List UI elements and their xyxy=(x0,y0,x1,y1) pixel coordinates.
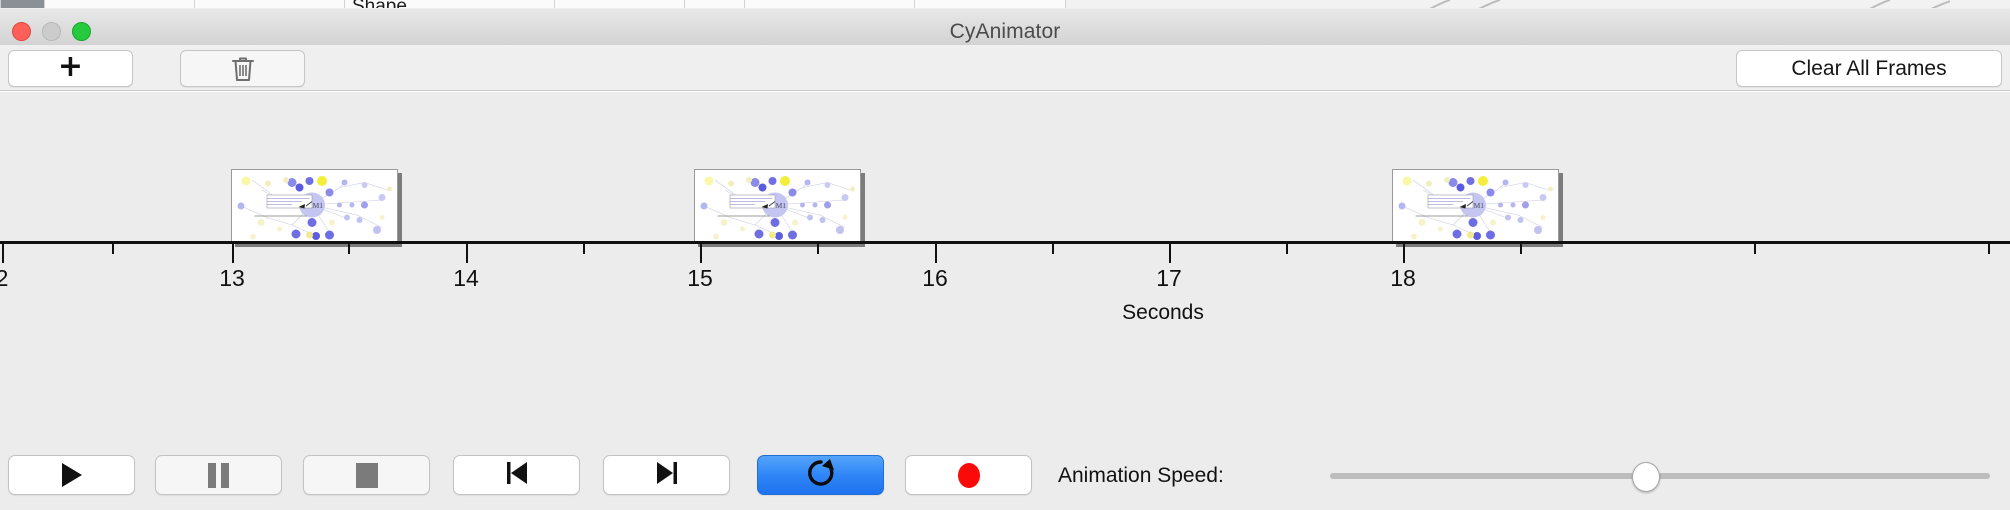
ruler-tick-minor xyxy=(583,244,585,254)
window-title: CyAnimator xyxy=(0,20,2010,44)
ruler-tick-label: 17 xyxy=(1156,265,1182,292)
delete-frame-button[interactable] xyxy=(180,50,305,87)
animation-speed-slider[interactable] xyxy=(1330,473,1990,479)
ruler-tick-minor xyxy=(1988,244,1990,254)
ruler-tick-label: 18 xyxy=(1390,265,1416,292)
skip-back-icon xyxy=(505,460,529,491)
ruler-tick-label: 16 xyxy=(922,265,948,292)
pause-icon xyxy=(208,463,229,488)
ruler-baseline xyxy=(0,241,2010,244)
record-button[interactable] xyxy=(905,455,1032,495)
ruler-tick-label: 2 xyxy=(0,265,8,292)
animation-speed-slider-thumb[interactable] xyxy=(1632,462,1660,492)
ruler-tick-major xyxy=(700,244,702,263)
plus-icon: + xyxy=(58,52,83,82)
stop-button[interactable] xyxy=(303,455,430,495)
ruler-tick-major xyxy=(1169,244,1171,263)
ruler-tick-minor xyxy=(1520,244,1522,254)
timeline-panel[interactable]: MCM1 xyxy=(0,91,2010,416)
ruler-tick-minor xyxy=(1286,244,1288,254)
timeline-frame-thumbnail[interactable]: MCM1 xyxy=(1392,169,1559,243)
ruler-tick-minor xyxy=(348,244,350,254)
ruler-tick-label: 15 xyxy=(687,265,713,292)
panel-top-divider xyxy=(0,91,2010,92)
timeline-frame-thumbnail[interactable]: MCM1 xyxy=(231,169,398,243)
timeline-frame-thumbnail[interactable]: MCM1 xyxy=(694,169,861,243)
skip-forward-icon xyxy=(655,460,679,491)
add-frame-button[interactable]: + xyxy=(8,50,133,87)
record-icon xyxy=(958,463,980,488)
first-frame-button[interactable] xyxy=(453,455,580,495)
ruler-tick-major xyxy=(935,244,937,263)
timeline-ruler[interactable]: 2131415161718 xyxy=(0,241,2010,273)
ruler-tick-label: 14 xyxy=(453,265,479,292)
ruler-tick-minor xyxy=(1052,244,1054,254)
last-frame-button[interactable] xyxy=(603,455,730,495)
ruler-tick-major xyxy=(232,244,234,263)
ruler-tick-major xyxy=(2,244,4,263)
loop-icon xyxy=(806,458,836,493)
playback-control-bar: Animation Speed: xyxy=(0,443,2010,510)
trash-icon xyxy=(231,56,255,82)
clear-all-frames-button[interactable]: Clear All Frames xyxy=(1736,50,2002,87)
window-titlebar[interactable]: CyAnimator xyxy=(0,8,2010,46)
animation-speed-label: Animation Speed: xyxy=(1058,464,1224,488)
ruler-tick-major xyxy=(466,244,468,263)
axis-title-seconds: Seconds xyxy=(1122,301,1204,325)
stop-icon xyxy=(356,463,378,488)
ruler-tick-label: 13 xyxy=(219,265,245,292)
toolbar: + Clear All Frames xyxy=(0,45,2010,91)
ruler-tick-major xyxy=(1403,244,1405,263)
loop-button[interactable] xyxy=(757,455,884,495)
clear-all-frames-label: Clear All Frames xyxy=(1791,57,1946,81)
pause-button[interactable] xyxy=(155,455,282,495)
play-button[interactable] xyxy=(8,455,135,495)
ruler-tick-minor xyxy=(817,244,819,254)
cyanimator-window: Shape CyAnimator + xyxy=(0,0,2010,510)
play-icon xyxy=(62,463,82,487)
ruler-tick-minor xyxy=(112,244,114,254)
ruler-tick-minor xyxy=(1754,244,1756,254)
